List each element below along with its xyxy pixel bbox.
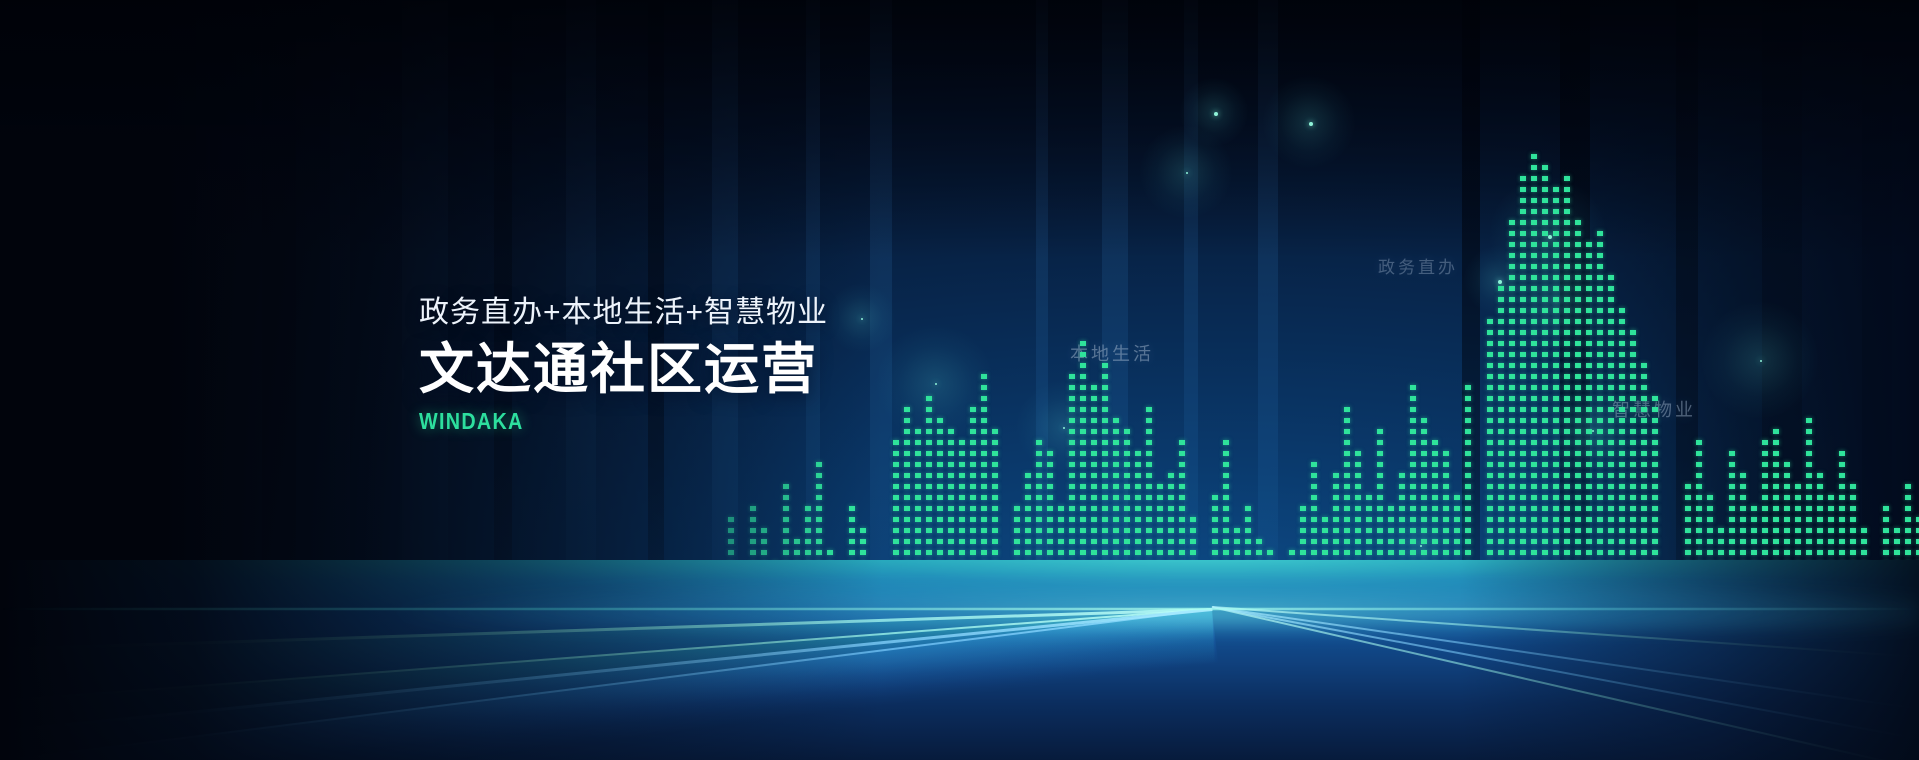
ghost-label-government-affairs: 政务直办 xyxy=(1378,253,1458,278)
hero-banner: 政务直办本地生活智慧物业 政务直办+本地生活+智慧物业 文达通社区运营 WIND… xyxy=(0,0,1919,760)
top-fade xyxy=(0,0,1919,258)
sparkle-4 xyxy=(1186,172,1188,174)
sparkle-6 xyxy=(861,318,863,320)
sparkle-11 xyxy=(1760,360,1762,362)
sparkle-10 xyxy=(1063,427,1065,429)
headline-subtitle: 政务直办+本地生活+智慧物业 xyxy=(419,296,828,331)
sparkle-5 xyxy=(1556,300,1558,302)
headline-block: 政务直办+本地生活+智慧物业 文达通社区运营 WINDAKA xyxy=(419,296,828,435)
sparkle-1 xyxy=(1309,122,1313,126)
horizon-line xyxy=(0,608,1919,610)
sparkle-0 xyxy=(1214,112,1218,116)
sparkle-2 xyxy=(1548,235,1552,239)
ghost-label-smart-property: 智慧物业 xyxy=(1612,396,1696,422)
sparkle-7 xyxy=(1592,430,1594,432)
brand-wordmark: WINDAKA xyxy=(419,408,771,435)
ghost-label-local-life: 本地生活 xyxy=(1070,340,1154,366)
headline-title: 文达通社区运营 xyxy=(419,339,828,400)
sparkle-9 xyxy=(1420,545,1422,547)
sparkle-8 xyxy=(935,383,937,385)
